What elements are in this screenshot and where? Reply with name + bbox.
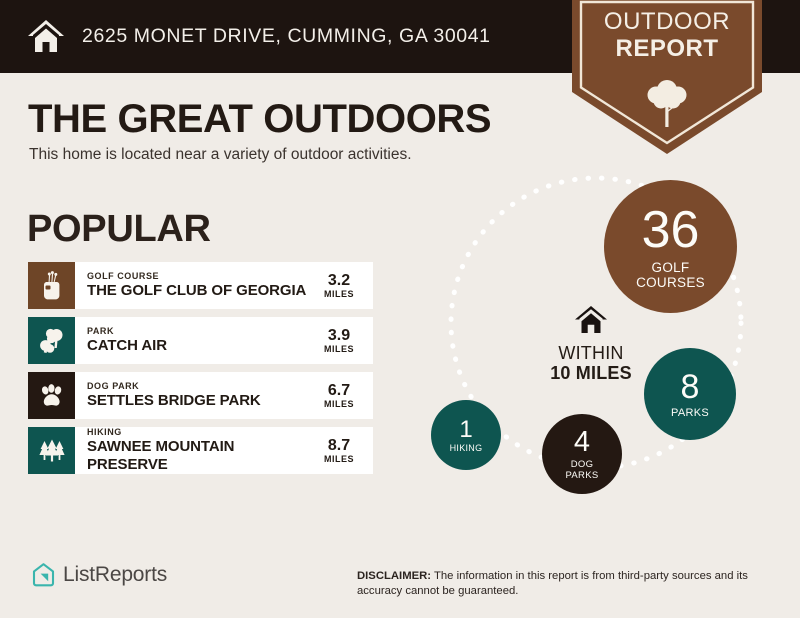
stat-value: 36 (642, 204, 700, 256)
list-item-category: DOG PARK (87, 381, 309, 392)
stat-circle-golf-courses[interactable]: 36 GOLF COURSES (604, 180, 737, 313)
center-label-line1: WITHIN (526, 343, 656, 363)
list-item-name: SETTLES BRIDGE PARK (87, 392, 309, 410)
list-item[interactable]: PARK CATCH AIR 3.9 MILES (28, 317, 373, 364)
popular-heading: POPULAR (27, 208, 211, 251)
distance-unit: MILES (324, 289, 354, 300)
distance-unit: MILES (324, 454, 354, 465)
popular-list: GOLF COURSE THE GOLF CLUB OF GEORGIA 3.2… (28, 262, 373, 482)
stat-label: DOG PARKS (565, 459, 598, 481)
stat-circle-hiking[interactable]: 1 HIKING (431, 400, 501, 470)
center-label-line2: 10 MILES (526, 363, 656, 384)
list-item-name: THE GOLF CLUB OF GEORGIA (87, 282, 309, 300)
list-item[interactable]: HIKING SAWNEE MOUNTAIN PRESERVE 8.7 MILE… (28, 427, 373, 474)
disclaimer: DISCLAIMER: The information in this repo… (357, 569, 777, 599)
list-item[interactable]: DOG PARK SETTLES BRIDGE PARK 6.7 MILES (28, 372, 373, 419)
header-address: 2625 MONET DRIVE, CUMMING, GA 30041 (82, 25, 491, 48)
paw-print-icon (28, 372, 75, 419)
stat-circle-parks[interactable]: 8 PARKS (644, 348, 736, 440)
list-item-category: GOLF COURSE (87, 271, 309, 282)
distance-value: 3.2 (328, 272, 350, 289)
stat-value: 4 (574, 428, 590, 457)
list-item[interactable]: GOLF COURSE THE GOLF CLUB OF GEORGIA 3.2… (28, 262, 373, 309)
stat-circle-dog-parks[interactable]: 4 DOG PARKS (542, 414, 622, 494)
home-icon (26, 18, 66, 56)
list-item-category: HIKING (87, 427, 309, 438)
distance-unit: MILES (324, 399, 354, 410)
golf-bag-icon (28, 262, 75, 309)
distance-value: 3.9 (328, 327, 350, 344)
stat-label: PARKS (671, 407, 709, 419)
amenities-diagram: WITHIN 10 MILES 36 GOLF COURSES 8 PARKS … (418, 175, 800, 545)
stat-label-line1: GOLF (636, 260, 705, 275)
list-item-text: PARK CATCH AIR (75, 317, 309, 364)
park-tree-icon (28, 317, 75, 364)
home-icon (574, 305, 608, 335)
listreports-house-icon (31, 562, 56, 588)
stat-label-line2: PARKS (565, 470, 598, 481)
stat-value: 8 (681, 370, 700, 404)
listreports-logo-text: ListReports (63, 563, 167, 587)
list-item-name: SAWNEE MOUNTAIN PRESERVE (87, 438, 309, 474)
list-item-distance: 8.7 MILES (309, 427, 373, 474)
list-item-name: CATCH AIR (87, 337, 309, 355)
stat-label: HIKING (450, 443, 483, 453)
outdoor-report-badge: OUTDOOR REPORT (572, 0, 762, 156)
stat-label: GOLF COURSES (636, 260, 705, 290)
page-subtitle: This home is located near a variety of o… (29, 146, 412, 164)
list-item-category: PARK (87, 326, 309, 337)
disclaimer-label: DISCLAIMER: (357, 570, 431, 582)
list-item-text: HIKING SAWNEE MOUNTAIN PRESERVE (75, 427, 309, 474)
list-item-distance: 6.7 MILES (309, 372, 373, 419)
tree-icon (645, 76, 689, 128)
page-title: THE GREAT OUTDOORS (28, 97, 491, 142)
list-item-distance: 3.9 MILES (309, 317, 373, 364)
stat-label-line2: COURSES (636, 275, 705, 290)
list-item-text: DOG PARK SETTLES BRIDGE PARK (75, 372, 309, 419)
stat-label-line1: DOG (565, 459, 598, 470)
outdoor-report-page: 2625 MONET DRIVE, CUMMING, GA 30041 OUTD… (0, 0, 800, 618)
diagram-center-label: WITHIN 10 MILES (526, 305, 656, 384)
distance-value: 6.7 (328, 382, 350, 399)
distance-unit: MILES (324, 344, 354, 355)
list-item-distance: 3.2 MILES (309, 262, 373, 309)
stat-value: 1 (459, 418, 472, 442)
distance-value: 8.7 (328, 437, 350, 454)
pine-trees-icon (28, 427, 75, 474)
list-item-text: GOLF COURSE THE GOLF CLUB OF GEORGIA (75, 262, 309, 309)
listreports-logo[interactable]: ListReports (31, 562, 167, 588)
